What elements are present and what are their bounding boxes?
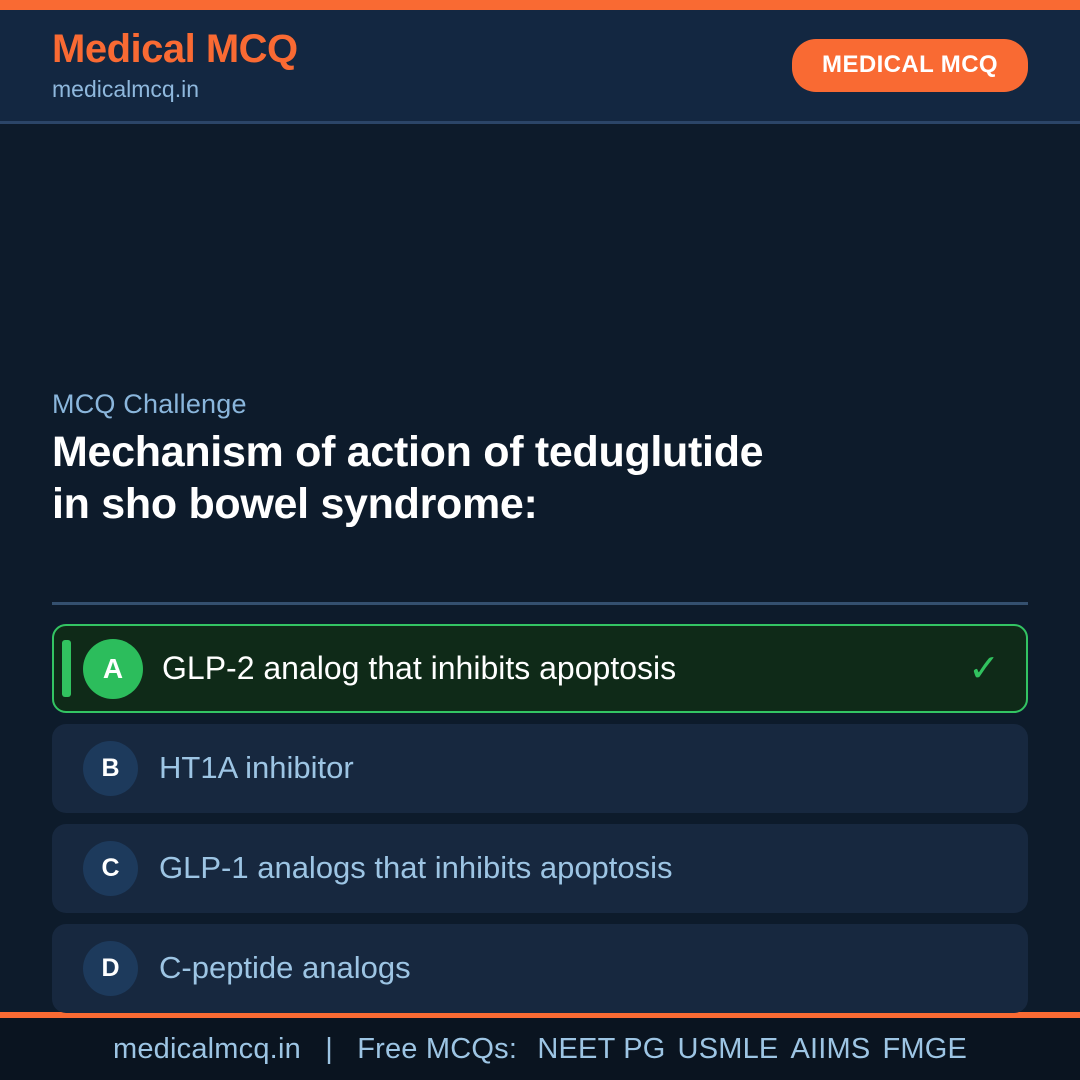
footer-separator: | — [309, 1033, 349, 1066]
footer-text: medicalmcq.in | Free MCQs: NEET PGUSMLEA… — [113, 1033, 967, 1066]
footer-site[interactable]: medicalmcq.in — [113, 1033, 301, 1065]
top-accent-bar — [0, 0, 1080, 10]
footer-exam-list: NEET PGUSMLEAIIMSFMGE — [525, 1033, 967, 1065]
check-icon: ✓ — [968, 650, 1000, 688]
option-b[interactable]: B HT1A inhibitor — [52, 724, 1028, 813]
brand-title: Medical MCQ — [52, 28, 298, 70]
option-a-text: GLP-2 analog that inhibits apoptosis — [162, 651, 676, 686]
footer-exam-usmle[interactable]: USMLE — [666, 1033, 779, 1065]
option-b-text: HT1A inhibitor — [159, 751, 354, 785]
footer: medicalmcq.in | Free MCQs: NEET PGUSMLEA… — [0, 1012, 1080, 1080]
option-d-letter-badge: D — [83, 941, 138, 996]
question-area: MCQ Challenge Mechanism of action of ted… — [0, 121, 1080, 1012]
mcq-card: Medical MCQ medicalmcq.in MEDICAL MCQ MC… — [0, 0, 1080, 1080]
correct-accent-bar — [62, 640, 71, 697]
footer-exam-aiims[interactable]: AIIMS — [778, 1033, 870, 1065]
brand-subtitle: medicalmcq.in — [52, 77, 298, 102]
brand-pill-badge: MEDICAL MCQ — [792, 39, 1028, 92]
footer-prefix: Free MCQs: — [357, 1033, 517, 1065]
option-a[interactable]: A GLP-2 analog that inhibits apoptosis ✓ — [52, 624, 1028, 713]
option-c-text: GLP-1 analogs that inhibits apoptosis — [159, 851, 673, 885]
header: Medical MCQ medicalmcq.in MEDICAL MCQ — [0, 10, 1080, 121]
options-list: A GLP-2 analog that inhibits apoptosis ✓… — [52, 624, 1028, 1013]
option-a-letter-badge: A — [83, 639, 143, 699]
option-c-letter-badge: C — [83, 841, 138, 896]
option-d[interactable]: D C-peptide analogs — [52, 924, 1028, 1013]
question-divider — [52, 602, 1028, 605]
brand: Medical MCQ medicalmcq.in — [52, 28, 298, 102]
footer-exam-fmge[interactable]: FMGE — [870, 1033, 967, 1065]
question-text: Mechanism of action of teduglutide in sh… — [52, 426, 812, 530]
option-b-letter-badge: B — [83, 741, 138, 796]
question-kicker: MCQ Challenge — [52, 389, 247, 420]
footer-exam-neet-pg[interactable]: NEET PG — [525, 1033, 665, 1065]
option-c[interactable]: C GLP-1 analogs that inhibits apoptosis — [52, 824, 1028, 913]
option-d-text: C-peptide analogs — [159, 951, 411, 985]
